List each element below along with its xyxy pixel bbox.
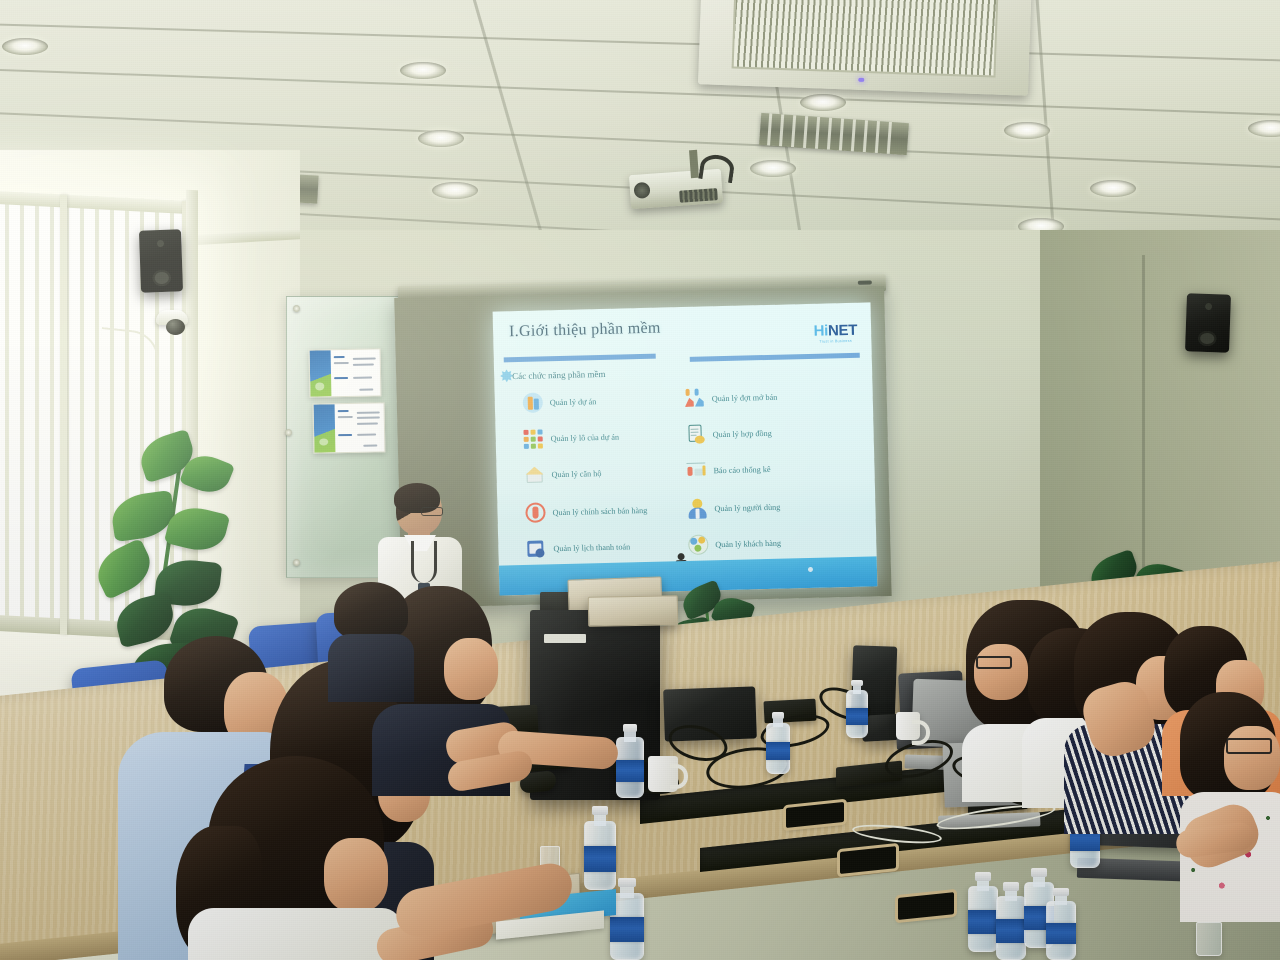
- feature-item: Quản lý lô của dự án: [523, 427, 619, 449]
- ceiling-downlight: [1248, 120, 1280, 137]
- water-bottle[interactable]: [616, 724, 644, 798]
- tower-label: [544, 634, 586, 643]
- air-vent: [759, 113, 909, 155]
- feature-item: Quản lý chính sách bán hàng: [525, 500, 647, 523]
- contract-document-icon: [685, 424, 705, 444]
- logo-tagline: Trust in Business: [814, 340, 858, 345]
- screen-pull-knob[interactable]: [858, 280, 872, 284]
- document-box: [588, 595, 679, 627]
- feature-item: Quản lý lịch thanh toán: [526, 536, 630, 559]
- grid-blocks-icon: [523, 428, 543, 448]
- title-rule-right: [690, 353, 860, 362]
- statistics-report-icon: [686, 460, 706, 480]
- ceiling-downlight: [400, 62, 446, 79]
- attendee-man-dark-background: [328, 582, 414, 702]
- water-bottle[interactable]: [846, 680, 868, 738]
- attendee-woman-floral-blouse: [1180, 692, 1280, 922]
- user-account-icon: [687, 498, 707, 518]
- wall-poster: [313, 402, 386, 453]
- ceiling-downlight: [800, 94, 846, 111]
- feature-item: Quản lý hợp đồng: [685, 423, 772, 445]
- cctv-camera-icon: [154, 310, 192, 336]
- ceiling-downlight: [418, 130, 464, 147]
- feature-label: Báo cáo thống kê: [713, 464, 770, 474]
- projector-ports: [679, 188, 718, 203]
- section-heading: Các chức năng phần mềm: [512, 369, 606, 381]
- presenter-lanyard: [411, 541, 437, 583]
- water-bottle[interactable]: [996, 882, 1026, 960]
- ceiling-downlight: [1090, 180, 1136, 197]
- projector-lens: [633, 182, 650, 199]
- feature-label: Quản lý chính sách bán hàng: [552, 505, 647, 516]
- title-rule-left: [504, 354, 656, 363]
- calendar-check-icon: [526, 538, 546, 558]
- feature-item: Báo cáo thống kê: [686, 459, 771, 481]
- water-bottle[interactable]: [766, 712, 790, 774]
- presenter-glasses-icon: [421, 507, 443, 516]
- customers-group-icon: [688, 534, 708, 554]
- feature-item: Quản lý khách hàng: [688, 533, 781, 555]
- wall-poster: [309, 348, 382, 397]
- feature-label: Quản lý lịch thanh toán: [553, 542, 630, 553]
- meeting-room-photo: I.Giới thiệu phần mềm HiNET Trust in Bus…: [0, 0, 1280, 960]
- feature-item: Quản lý đợt mở bán: [685, 387, 778, 409]
- house-icon: [524, 464, 544, 484]
- feature-label: Quản lý khách hàng: [715, 538, 781, 549]
- water-bottle[interactable]: [968, 872, 998, 952]
- coffee-mug[interactable]: [896, 712, 920, 740]
- ceiling-downlight: [2, 38, 48, 55]
- presentation-slide: I.Giới thiệu phần mềm HiNET Trust in Bus…: [493, 302, 878, 595]
- feature-label: Quản lý dự án: [550, 397, 597, 407]
- feature-item: Quản lý dự án: [523, 391, 597, 413]
- ceiling-downlight: [750, 160, 796, 177]
- water-bottle[interactable]: [1046, 888, 1076, 960]
- wall-speaker-right: [1185, 293, 1231, 353]
- ceiling-downlight: [1004, 122, 1050, 139]
- logo-net: NET: [828, 322, 858, 340]
- logo-hi: Hi: [813, 322, 828, 339]
- glasses-icon: [1226, 738, 1272, 754]
- hinet-logo: HiNET Trust in Business: [813, 323, 857, 345]
- price-tag-icon: [525, 502, 545, 522]
- wall-speaker-left: [139, 229, 183, 292]
- ceiling-ac-unit: [698, 0, 1032, 96]
- coffee-mug[interactable]: [648, 756, 678, 792]
- houses-sale-icon: [685, 388, 705, 408]
- window-frame: [60, 194, 67, 634]
- glasses-icon: [976, 656, 1012, 669]
- drinking-glass[interactable]: [1196, 922, 1222, 956]
- project-building-icon: [523, 392, 543, 412]
- feature-label: Quản lý người dùng: [714, 502, 780, 513]
- feature-label: Quản lý đợt mở bán: [712, 392, 778, 403]
- slide-title: I.Giới thiệu phần mềm: [509, 320, 661, 342]
- feature-label: Quản lý lô của dự án: [551, 432, 620, 443]
- ceiling-downlight: [432, 182, 478, 199]
- feature-item: Quản lý căn hộ: [524, 463, 601, 485]
- feature-label: Quản lý hợp đồng: [713, 428, 772, 438]
- feature-label: Quản lý căn hộ: [551, 469, 601, 479]
- feature-item: Quản lý người dùng: [687, 497, 780, 519]
